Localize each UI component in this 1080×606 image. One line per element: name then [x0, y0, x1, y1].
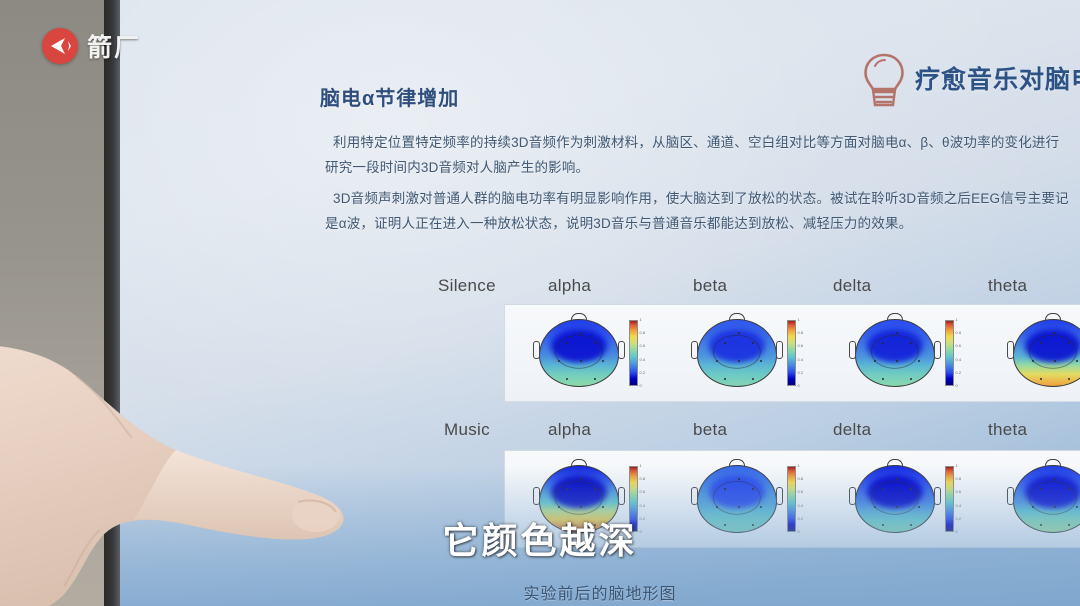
condition-label-silence: Silence [438, 276, 496, 296]
contour-ring [554, 335, 602, 369]
electrode-marker [760, 506, 762, 508]
electrode-marker [910, 488, 912, 490]
electrode-marker [1054, 506, 1056, 508]
colorbar-tick-label: 0.4 [640, 503, 646, 508]
colorbar-tick-label: 0.8 [798, 330, 804, 335]
colorbar-tick-label: 0 [640, 383, 642, 388]
colorbar-tick-label: 0.6 [640, 489, 646, 494]
topography-head-delta [847, 313, 943, 393]
topography-head-alpha [531, 313, 627, 393]
electrode-marker [1032, 506, 1034, 508]
electrode-marker [1040, 342, 1042, 344]
colorbar-tick-label: 0.2 [798, 370, 804, 375]
ear-marker-l [533, 341, 540, 359]
ear-marker-r [776, 341, 783, 359]
electrode-marker [716, 360, 718, 362]
electrode-marker [580, 332, 582, 334]
electrode-marker [882, 488, 884, 490]
colorbar-tick-label: 1 [956, 317, 958, 322]
ear-marker-r [934, 487, 941, 505]
electrode-marker [752, 378, 754, 380]
contour-ring [712, 481, 760, 515]
contour-ring [1028, 481, 1076, 515]
topography-panel-silence-beta: 10.80.60.40.20 [663, 305, 821, 401]
colorbar: 10.80.60.40.20 [945, 320, 954, 386]
video-frame: 疗愈音乐对脑电的影 脑电α节律增加 利用特定位置特定频率的持续3D音频作为刺激材… [0, 0, 1080, 606]
electrode-marker [724, 488, 726, 490]
colorbar-tick-label: 0.4 [956, 357, 962, 362]
electrode-marker [594, 342, 596, 344]
electrode-marker [558, 506, 560, 508]
electrode-marker [1076, 506, 1078, 508]
colorbar-tick-label: 1 [640, 317, 642, 322]
contour-ring [870, 335, 918, 369]
colorbar-ticks: 10.80.60.40.20 [956, 317, 972, 389]
electrode-marker [1040, 488, 1042, 490]
electrode-marker [580, 506, 582, 508]
colorbar-tick-label: 0.4 [798, 503, 804, 508]
electrode-marker [1076, 360, 1078, 362]
electrode-marker [910, 342, 912, 344]
paragraph-1-line-2: 研究一段时间内3D音频对人脑产生的影响。 [325, 155, 1080, 180]
colorbar-gradient [629, 320, 638, 386]
ear-marker-r [618, 341, 625, 359]
topography-panel-silence-alpha: 10.80.60.40.20 [505, 305, 663, 401]
contour-ring [1028, 335, 1076, 369]
colorbar-tick-label: 1 [798, 317, 800, 322]
electrode-marker [566, 378, 568, 380]
electrode-marker [874, 360, 876, 362]
colorbar-tick-label: 0 [798, 383, 800, 388]
colorbar-ticks: 10.80.60.40.20 [798, 317, 814, 389]
colorbar-gradient [945, 320, 954, 386]
colorbar-tick-label: 0.6 [956, 489, 962, 494]
ear-marker-l [533, 487, 540, 505]
slide-header-title: 疗愈音乐对脑电的影 [915, 60, 1080, 96]
electrode-marker [882, 378, 884, 380]
ear-marker-l [1007, 487, 1014, 505]
ear-marker-l [1007, 341, 1014, 359]
condition-label-music: Music [444, 420, 490, 440]
colorbar-tick-label: 1 [640, 463, 642, 468]
nose-marker [887, 313, 903, 320]
nose-marker [887, 459, 903, 466]
topography-head-beta [689, 313, 785, 393]
electrode-marker [918, 360, 920, 362]
scalp-map [539, 319, 619, 387]
electrode-marker [558, 360, 560, 362]
electrode-marker [874, 506, 876, 508]
contour-ring [870, 481, 918, 515]
electrode-marker [882, 342, 884, 344]
electrode-marker [1040, 378, 1042, 380]
colorbar-tick-label: 0 [956, 383, 958, 388]
slide-paragraph-1: 利用特定位置特定频率的持续3D音频作为刺激材料，从脑区、通道、空白组对比等方面对… [325, 130, 1080, 180]
channel-logo: 箭厂 [42, 28, 141, 64]
electrode-marker [752, 342, 754, 344]
paragraph-1-line-1: 利用特定位置特定频率的持续3D音频作为刺激材料，从脑区、通道、空白组对比等方面对… [325, 130, 1080, 155]
paragraph-2-line-1: 3D音频声刺激对普通人群的脑电功率有明显影响作用，使大脑达到了放松的状态。被试在… [325, 186, 1080, 211]
electrode-marker [1054, 332, 1056, 334]
ear-marker-l [691, 487, 698, 505]
nose-marker [1045, 313, 1061, 320]
electrode-marker [896, 360, 898, 362]
slide-section-title: 脑电α节律增加 [320, 82, 459, 111]
electrode-marker [716, 506, 718, 508]
electrode-marker [918, 506, 920, 508]
scalp-map [697, 319, 777, 387]
play-triangle-icon [42, 28, 78, 64]
electrode-marker [602, 506, 604, 508]
electrode-marker [1068, 488, 1070, 490]
contour-ring [712, 335, 760, 369]
electrode-marker [738, 360, 740, 362]
nose-marker [571, 313, 587, 320]
band-label-theta-music: theta [988, 420, 1027, 440]
colorbar-ticks: 10.80.60.40.20 [640, 317, 656, 389]
electrode-marker [760, 360, 762, 362]
colorbar-tick-label: 0.6 [956, 343, 962, 348]
colorbar-tick-label: 1 [956, 463, 958, 468]
electrode-marker [566, 488, 568, 490]
ear-marker-l [691, 341, 698, 359]
ear-marker-r [934, 341, 941, 359]
colorbar-tick-label: 0.4 [798, 357, 804, 362]
scalp-map [855, 319, 935, 387]
colorbar-gradient [787, 320, 796, 386]
electrode-marker [1068, 378, 1070, 380]
electrode-marker [738, 506, 740, 508]
electrode-marker [910, 378, 912, 380]
row-1-labels: Silence alpha beta delta theta [438, 276, 1080, 302]
channel-logo-text: 箭厂 [87, 28, 141, 64]
band-label-beta-music: beta [693, 420, 727, 440]
electrode-marker [752, 488, 754, 490]
contour-ring [554, 481, 602, 515]
electrode-marker [566, 342, 568, 344]
band-label-delta-silence: delta [833, 276, 871, 296]
row-2-labels: Music alpha beta delta theta [438, 420, 1080, 446]
colorbar: 10.80.60.40.20 [787, 320, 796, 386]
band-label-alpha-silence: alpha [548, 276, 591, 296]
electrode-marker [724, 378, 726, 380]
colorbar-tick-label: 0.2 [956, 370, 962, 375]
colorbar-tick-label: 1 [798, 463, 800, 468]
electrode-marker [738, 478, 740, 480]
topography-panel-silence-delta: 10.80.60.40.20 [821, 305, 979, 401]
nose-marker [1045, 459, 1061, 466]
colorbar-tick-label: 0.4 [956, 503, 962, 508]
colorbar-tick-label: 0.8 [640, 476, 646, 481]
band-label-delta-music: delta [833, 420, 871, 440]
topography-panel-silence-theta: 10.80.60.40.20 [979, 305, 1080, 401]
electrode-marker [594, 488, 596, 490]
electrode-marker [580, 478, 582, 480]
electrode-marker [896, 506, 898, 508]
scalp-map [1013, 319, 1080, 387]
electrode-marker [1054, 478, 1056, 480]
topography-head-theta [1005, 313, 1080, 393]
ear-marker-l [849, 487, 856, 505]
colorbar-tick-label: 0.6 [798, 489, 804, 494]
ear-marker-r [776, 487, 783, 505]
colorbar-tick-label: 0.4 [640, 357, 646, 362]
nose-marker [729, 313, 745, 320]
electrode-marker [1054, 360, 1056, 362]
electrode-marker [738, 332, 740, 334]
band-label-alpha-music: alpha [548, 420, 591, 440]
topography-row-silence: 10.80.60.40.2010.80.60.40.2010.80.60.40.… [504, 304, 1080, 402]
colorbar: 10.80.60.40.20 [629, 320, 638, 386]
ear-marker-l [849, 341, 856, 359]
colorbar-tick-label: 0.2 [640, 370, 646, 375]
electrode-marker [580, 360, 582, 362]
colorbar-tick-label: 0.6 [640, 343, 646, 348]
electrode-marker [602, 360, 604, 362]
electrode-marker [1068, 342, 1070, 344]
electrode-marker [724, 342, 726, 344]
slide-paragraph-2: 3D音频声刺激对普通人群的脑电功率有明显影响作用，使大脑达到了放松的状态。被试在… [325, 186, 1080, 236]
colorbar-tick-label: 0.8 [640, 330, 646, 335]
lightbulb-icon [860, 52, 908, 110]
colorbar-tick-label: 0.8 [956, 330, 962, 335]
colorbar-tick-label: 0.6 [798, 343, 804, 348]
electrode-marker [1032, 360, 1034, 362]
colorbar-tick-label: 0.8 [798, 476, 804, 481]
nose-marker [571, 459, 587, 466]
electrode-marker [896, 332, 898, 334]
pointing-hand [0, 330, 380, 606]
colorbar-tick-label: 0.8 [956, 476, 962, 481]
nose-marker [729, 459, 745, 466]
paragraph-2-line-2: 是α波，证明人正在进入一种放松状态，说明3D音乐与普通音乐都能达到放松、减轻压力… [325, 211, 1080, 236]
electrode-marker [896, 478, 898, 480]
electrode-marker [594, 378, 596, 380]
ear-marker-r [618, 487, 625, 505]
band-label-theta-silence: theta [988, 276, 1027, 296]
band-label-beta-silence: beta [693, 276, 727, 296]
